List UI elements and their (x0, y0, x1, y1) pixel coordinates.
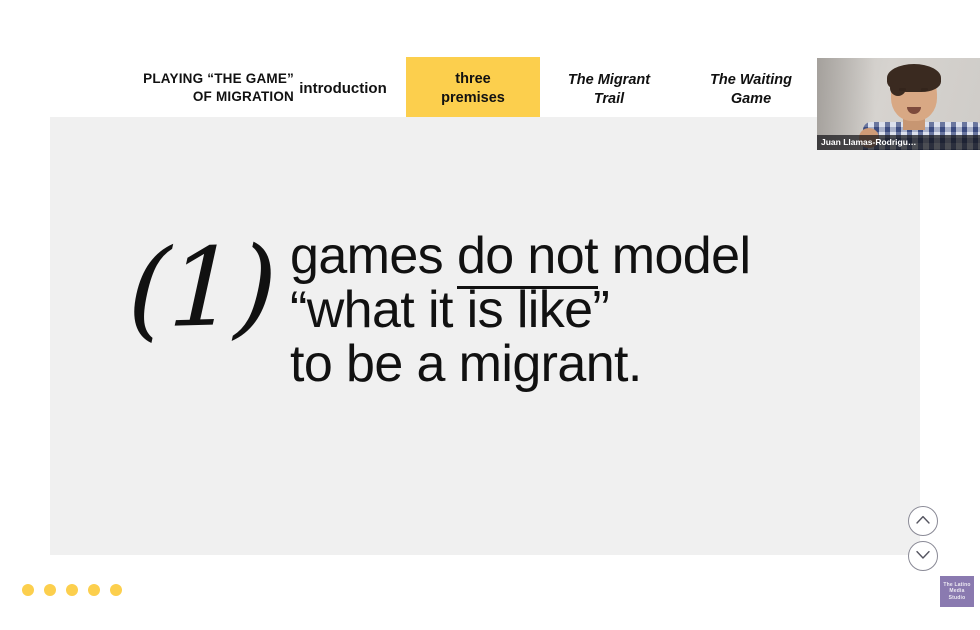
nav-tab-the-migrant-trail-label-1: The Migrant (548, 71, 670, 90)
participant-video-tile[interactable]: Juan Llamas-Rodrigu… (817, 58, 980, 150)
nav-tab-the-migrant-trail-label-2: Trail (548, 90, 670, 109)
logo-badge[interactable]: The Latino Media Studio (940, 576, 974, 607)
pagination-dot[interactable] (66, 584, 78, 596)
logo-badge-line-3: Studio (943, 595, 970, 601)
slide-text-line-2: “what it is like” (290, 283, 890, 337)
nav-tab-the-waiting-game-label-2: Game (690, 90, 812, 109)
logo-badge-text: The Latino Media Studio (943, 582, 970, 601)
pagination-dot[interactable] (88, 584, 100, 596)
nav-tab-the-waiting-game[interactable]: The Waiting Game (690, 71, 812, 108)
presentation-title-line-2: OF MIGRATION (62, 88, 294, 106)
nav-tab-three-premises-label-1: three (406, 70, 540, 89)
participant-hair (887, 64, 941, 92)
slide-text-line-1-before: games (290, 227, 457, 285)
slide-body-text: games do not model “what it is like” to … (290, 229, 890, 391)
slide-number: (1) (127, 233, 277, 345)
presentation-title-line-1: PLAYING “THE GAME” (62, 70, 294, 88)
presentation-title: PLAYING “THE GAME” OF MIGRATION (62, 70, 294, 106)
nav-tab-introduction[interactable]: introduction (290, 79, 396, 98)
nav-tab-three-premises[interactable]: three premises (406, 57, 540, 120)
nav-tab-three-premises-label-2: premises (406, 89, 540, 108)
pagination-dot[interactable] (110, 584, 122, 596)
scroll-down-button[interactable] (908, 541, 938, 571)
slide-canvas[interactable]: (1) games do not model “what it is like”… (50, 117, 920, 555)
slide-pagination-dots[interactable] (22, 584, 122, 596)
nav-tab-the-migrant-trail[interactable]: The Migrant Trail (548, 71, 670, 108)
slide-text-line-1-after: model (598, 227, 750, 285)
participant-name-label: Juan Llamas-Rodrigu… (817, 135, 980, 150)
nav-tab-introduction-label: introduction (290, 79, 396, 98)
nav-tab-the-waiting-game-label-1: The Waiting (690, 71, 812, 90)
pagination-dot[interactable] (22, 584, 34, 596)
scroll-up-button[interactable] (908, 506, 938, 536)
participant-eye-left (899, 88, 906, 91)
slide-text-emphasis-do-not: do not (457, 227, 598, 289)
chevron-up-icon (916, 515, 930, 524)
pagination-dot[interactable] (44, 584, 56, 596)
slide-text-line-3: to be a migrant. (290, 337, 890, 391)
slide-text-line-1: games do not model (290, 229, 890, 283)
participant-eye-right (921, 88, 928, 91)
chevron-down-icon (916, 550, 930, 559)
